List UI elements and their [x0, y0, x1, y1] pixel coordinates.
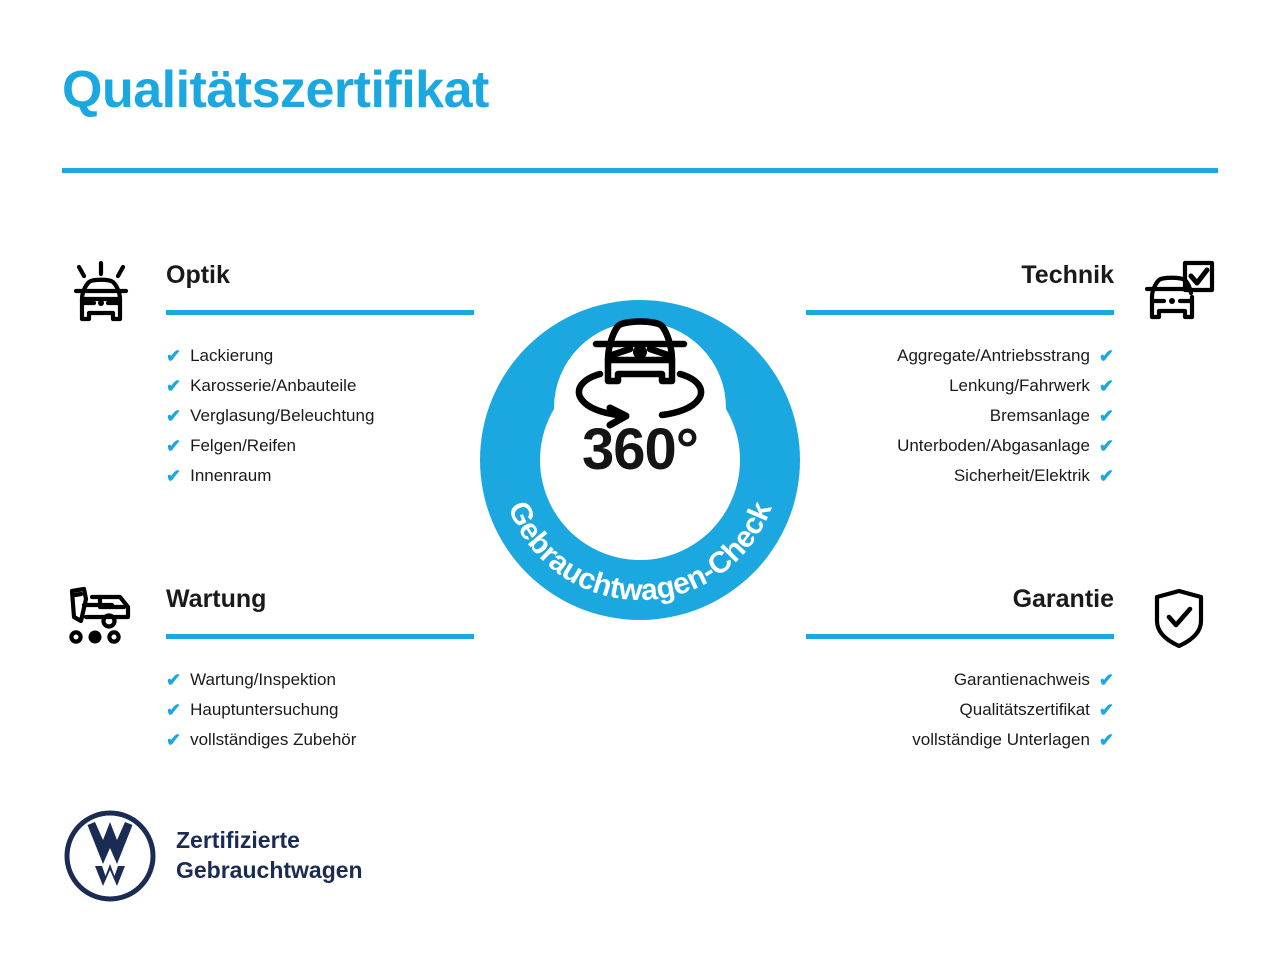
list-item: Sicherheit/Elektrik✔ — [798, 461, 1114, 491]
section-optik-underline — [166, 310, 474, 315]
badge-center-value: 360° — [460, 416, 820, 483]
check-icon: ✔ — [1099, 407, 1114, 425]
list-item-label: Unterboden/Abgasanlage — [897, 431, 1090, 461]
list-item: Garantienachweis✔ — [798, 665, 1114, 695]
section-wartung: Wartung ✔Wartung/Inspektion ✔Hauptunters… — [62, 579, 482, 755]
section-optik-title: Optik — [166, 261, 230, 290]
list-item-label: Felgen/Reifen — [190, 431, 296, 461]
list-item: vollständige Unterlagen✔ — [798, 725, 1114, 755]
header-divider — [62, 168, 1218, 173]
spacer — [798, 491, 1218, 579]
car-checkbox-icon — [1140, 257, 1218, 329]
section-technik: Technik Aggregate/Antriebsstrang✔ Lenkun… — [798, 255, 1218, 491]
footer-line-1: Zertifizierte — [176, 826, 363, 856]
list-item-label: Innenraum — [190, 461, 271, 491]
list-item: ✔Wartung/Inspektion — [166, 665, 482, 695]
section-garantie-list: Garantienachweis✔ Qualitätszertifikat✔ v… — [798, 665, 1114, 755]
page-title: Qualitätszertifikat — [62, 62, 489, 119]
section-wartung-title: Wartung — [166, 585, 266, 614]
list-item-label: vollständiges Zubehör — [190, 725, 356, 755]
footer-line-2: Gebrauchtwagen — [176, 856, 363, 886]
spacer — [62, 491, 482, 579]
check-icon: ✔ — [166, 437, 181, 455]
section-wartung-header: Wartung — [62, 579, 482, 657]
check-icon: ✔ — [1099, 731, 1114, 749]
check-icon: ✔ — [1099, 437, 1114, 455]
section-technik-underline — [806, 310, 1114, 315]
check-icon: ✔ — [166, 347, 181, 365]
section-technik-title: Technik — [1021, 261, 1114, 290]
list-item: ✔Hauptuntersuchung — [166, 695, 482, 725]
list-item-label: Verglasung/Beleuchtung — [190, 401, 374, 431]
check-icon: ✔ — [1099, 377, 1114, 395]
list-item: ✔Felgen/Reifen — [166, 431, 482, 461]
list-item: Aggregate/Antriebsstrang✔ — [798, 341, 1114, 371]
check-icon: ✔ — [1099, 671, 1114, 689]
section-technik-header: Technik — [798, 255, 1218, 333]
list-item-label: Bremsanlage — [990, 401, 1090, 431]
list-item: Lenkung/Fahrwerk✔ — [798, 371, 1114, 401]
shield-check-icon — [1140, 581, 1218, 653]
check-icon: ✔ — [166, 407, 181, 425]
check-icon: ✔ — [1099, 701, 1114, 719]
list-item: ✔Verglasung/Beleuchtung — [166, 401, 482, 431]
list-item: ✔Lackierung — [166, 341, 482, 371]
footer-brand: Zertifizierte Gebrauchtwagen — [62, 808, 363, 904]
list-item: Bremsanlage✔ — [798, 401, 1114, 431]
section-garantie-header: Garantie — [798, 579, 1218, 657]
badge-360-check: Gebrauchtwagen-Check 360° — [460, 248, 820, 648]
list-item-label: Sicherheit/Elektrik — [954, 461, 1090, 491]
car-shine-icon — [62, 257, 140, 329]
check-icon: ✔ — [166, 377, 181, 395]
list-item: ✔Innenraum — [166, 461, 482, 491]
list-item-label: Hauptuntersuchung — [190, 695, 338, 725]
list-item-label: Qualitätszertifikat — [960, 695, 1090, 725]
section-garantie-title: Garantie — [1013, 585, 1114, 614]
section-garantie-underline — [806, 634, 1114, 639]
list-item: ✔vollständiges Zubehör — [166, 725, 482, 755]
section-garantie: Garantie Garantienachweis✔ Qualitätszert… — [798, 579, 1218, 755]
check-icon: ✔ — [1099, 347, 1114, 365]
list-item: ✔Karosserie/Anbauteile — [166, 371, 482, 401]
list-item-label: Garantienachweis — [954, 665, 1090, 695]
check-icon: ✔ — [166, 701, 181, 719]
check-icon: ✔ — [166, 731, 181, 749]
left-column: Optik ✔Lackierung ✔Karosserie/Anbauteile… — [62, 255, 482, 755]
section-optik: Optik ✔Lackierung ✔Karosserie/Anbauteile… — [62, 255, 482, 491]
check-icon: ✔ — [1099, 467, 1114, 485]
list-item: Unterboden/Abgasanlage✔ — [798, 431, 1114, 461]
section-technik-list: Aggregate/Antriebsstrang✔ Lenkung/Fahrwe… — [798, 341, 1114, 491]
list-item-label: Wartung/Inspektion — [190, 665, 336, 695]
section-optik-list: ✔Lackierung ✔Karosserie/Anbauteile ✔Verg… — [166, 341, 482, 491]
section-wartung-list: ✔Wartung/Inspektion ✔Hauptuntersuchung ✔… — [166, 665, 482, 755]
list-item-label: vollständige Unterlagen — [912, 725, 1090, 755]
list-item-label: Karosserie/Anbauteile — [190, 371, 356, 401]
list-item-label: Lackierung — [190, 341, 273, 371]
right-column: Technik Aggregate/Antriebsstrang✔ Lenkun… — [798, 255, 1218, 755]
section-wartung-underline — [166, 634, 474, 639]
car-lift-tool-icon — [62, 581, 140, 653]
check-icon: ✔ — [166, 671, 181, 689]
footer-text: Zertifizierte Gebrauchtwagen — [176, 826, 363, 886]
check-icon: ✔ — [166, 467, 181, 485]
list-item-label: Lenkung/Fahrwerk — [949, 371, 1090, 401]
vw-logo-icon — [62, 808, 158, 904]
section-optik-header: Optik — [62, 255, 482, 333]
list-item: Qualitätszertifikat✔ — [798, 695, 1114, 725]
list-item-label: Aggregate/Antriebsstrang — [897, 341, 1090, 371]
